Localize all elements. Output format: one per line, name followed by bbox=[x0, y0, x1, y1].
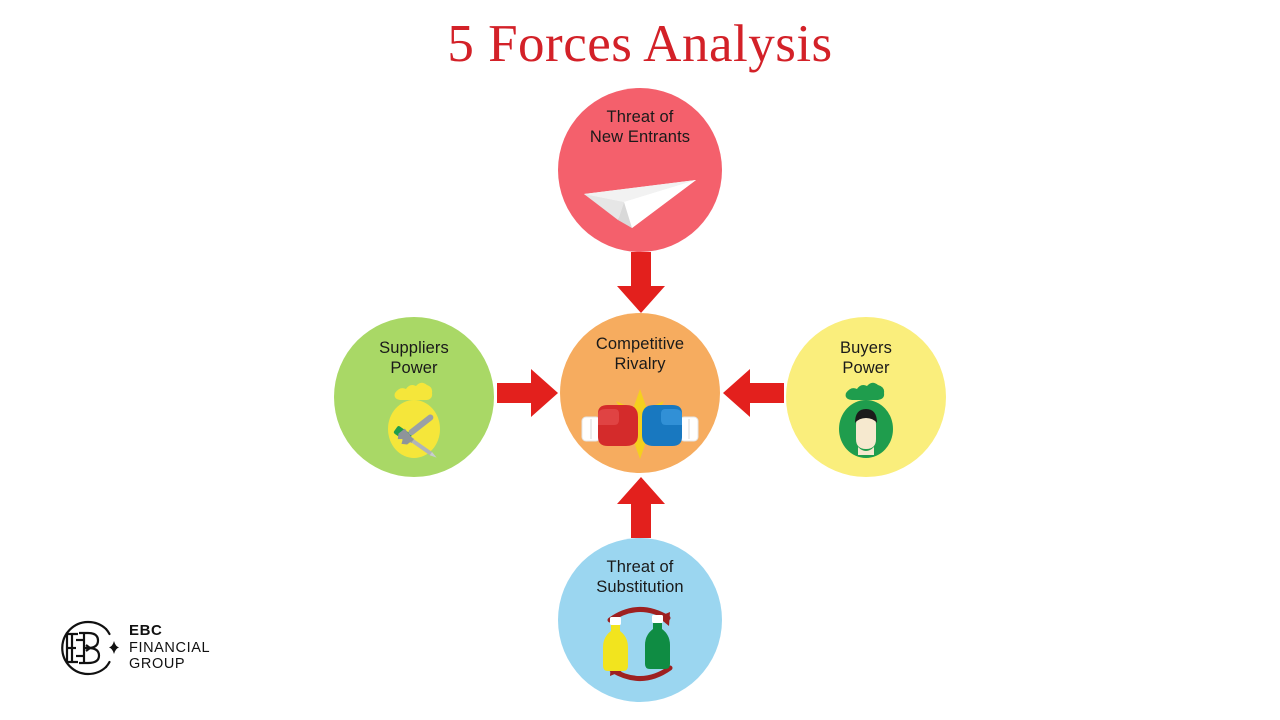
ebc-monogram-icon bbox=[48, 612, 120, 684]
boxing-gloves-icon bbox=[560, 389, 720, 459]
brand-descriptor-line-2: GROUP bbox=[129, 656, 210, 672]
force-node-threat-of-substitution[interactable]: Threat of Substitution bbox=[558, 538, 722, 702]
arrow-up-icon bbox=[616, 476, 666, 538]
paper-airplane-icon bbox=[558, 168, 722, 238]
arrow-right-icon bbox=[497, 368, 559, 418]
force-label: Competitive Rivalry bbox=[596, 334, 684, 374]
arrow-down-icon bbox=[616, 252, 666, 314]
brand-logo: EBC FINANCIAL GROUP bbox=[48, 612, 210, 684]
force-node-competitive-rivalry[interactable]: Competitive Rivalry bbox=[560, 313, 720, 473]
money-bag-person-icon bbox=[786, 377, 946, 463]
force-label: Threat of New Entrants bbox=[590, 107, 690, 147]
force-label: Threat of Substitution bbox=[596, 557, 683, 597]
bottle-swap-icon bbox=[558, 598, 722, 688]
force-label: Buyers Power bbox=[840, 338, 892, 378]
force-node-threat-of-new-entrants[interactable]: Threat of New Entrants bbox=[558, 88, 722, 252]
force-node-buyers-power[interactable]: Buyers Power bbox=[786, 317, 946, 477]
brand-descriptor-line-1: FINANCIAL bbox=[129, 640, 210, 656]
force-label: Suppliers Power bbox=[379, 338, 449, 378]
brand-name: EBC bbox=[129, 623, 210, 640]
force-node-suppliers-power[interactable]: Suppliers Power bbox=[334, 317, 494, 477]
arrow-left-icon bbox=[722, 368, 784, 418]
money-bag-tools-icon bbox=[334, 377, 494, 463]
